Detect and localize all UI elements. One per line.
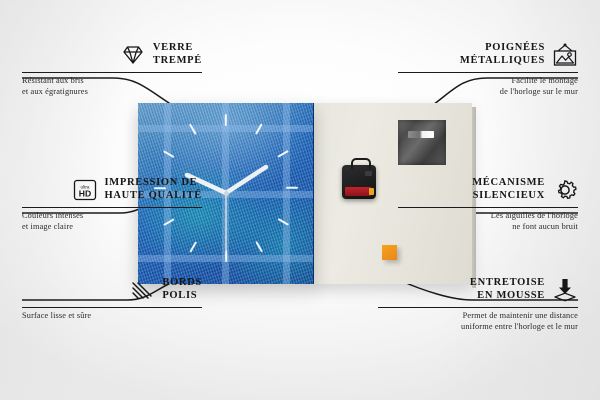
divider [398, 72, 578, 73]
clock-pivot [224, 191, 229, 196]
feature-bords-polis: BORDSPOLIS Surface lisse et sûre [22, 277, 202, 322]
divider [22, 72, 202, 73]
feature-subtitle: Couleurs intenseset image claire [22, 211, 202, 233]
plate-slot [408, 131, 434, 138]
feature-title: POIGNÉESMÉTALLIQUES [460, 42, 545, 68]
clock-mechanism [342, 165, 376, 199]
polished-edges-icon [129, 277, 155, 303]
feature-title: IMPRESSION DEHAUTE QUALITÉ [105, 177, 203, 203]
feature-verre-trempe: VERRETREMPÉ Résistant aux briset aux égr… [22, 42, 202, 98]
gear-icon [552, 177, 578, 203]
divider [22, 307, 202, 308]
mechanism-chip [365, 171, 372, 176]
divider [22, 207, 202, 208]
feature-subtitle: Facilite le montagede l'horloge sur le m… [398, 76, 578, 98]
feature-impression-haute-qualite: ultra HD IMPRESSION DEHAUTE QUALITÉ Coul… [22, 177, 202, 233]
battery [345, 187, 371, 196]
ultra-hd-icon: ultra HD [72, 177, 98, 203]
divider [378, 307, 578, 308]
hanging-frame-icon [552, 42, 578, 68]
metal-hanging-plate [398, 120, 446, 165]
svg-text:HD: HD [78, 189, 90, 199]
feature-title: VERRETREMPÉ [153, 42, 202, 68]
orange-foam-spacer [382, 245, 397, 260]
product-feature-infographic: VERRETREMPÉ Résistant aux briset aux égr… [0, 0, 600, 400]
feature-title: ENTRETOISEEN MOUSSE [470, 277, 545, 303]
feature-subtitle: Les aiguilles de l'horlogene font aucun … [398, 211, 578, 233]
press-down-pad-icon [552, 277, 578, 303]
feature-title: MÉCANISMESILENCIEUX [472, 177, 545, 203]
mechanism-hanging-loop [351, 158, 371, 169]
feature-poignees-metalliques: POIGNÉESMÉTALLIQUES Facilite le montaged… [398, 42, 578, 98]
feature-mecanisme-silencieux: MÉCANISMESILENCIEUX Les aiguilles de l'h… [398, 177, 578, 233]
feature-entretoise-en-mousse: ENTRETOISEEN MOUSSE Permet de maintenir … [378, 277, 578, 333]
diamond-icon [120, 42, 146, 68]
feature-title: BORDSPOLIS [162, 277, 202, 303]
feature-subtitle: Résistant aux briset aux égratignures [22, 76, 202, 98]
feature-subtitle: Surface lisse et sûre [22, 311, 202, 322]
feature-subtitle: Permet de maintenir une distanceuniforme… [378, 311, 578, 333]
divider [398, 207, 578, 208]
